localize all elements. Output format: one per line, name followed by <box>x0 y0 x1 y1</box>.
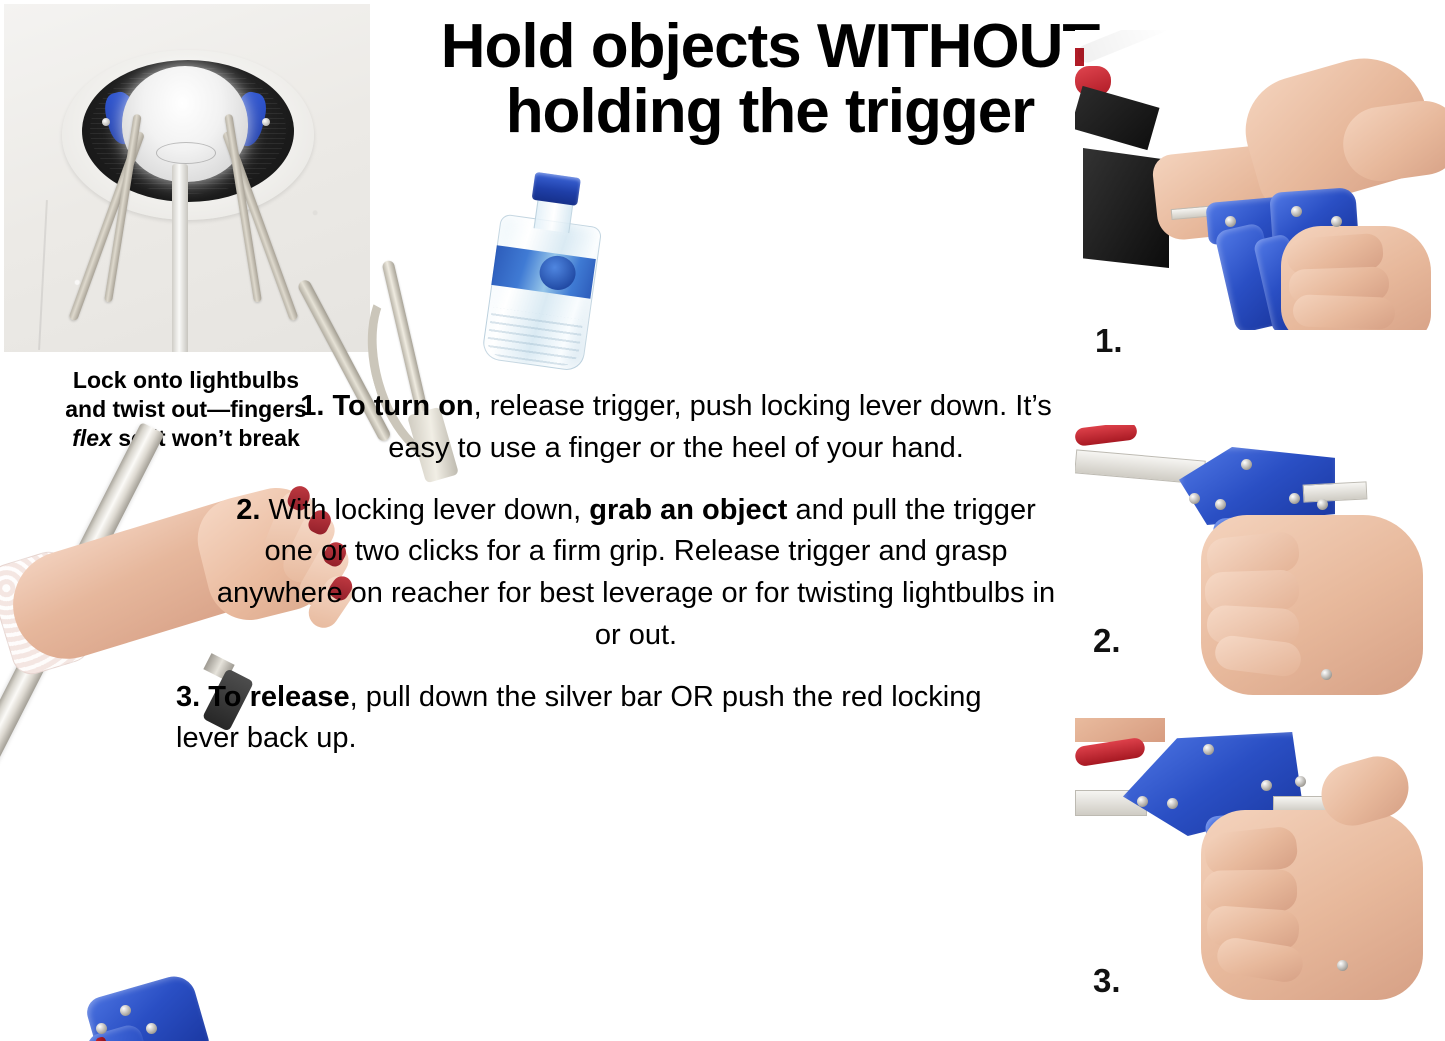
thumb-crease <box>1075 30 1171 65</box>
reacher-shaft <box>0 422 165 977</box>
handle-rivet-3 <box>96 1023 107 1034</box>
tool-rivet-5 <box>1295 776 1306 787</box>
step-1-bold: To turn on <box>332 390 473 422</box>
tool-rivet-4 <box>1289 493 1300 504</box>
step-1-photo <box>1075 30 1445 330</box>
handle-rivet-2 <box>146 1023 157 1034</box>
tool-rivet-4 <box>1261 780 1272 791</box>
page-title: Hold objects WITHOUT holding the trigger <box>370 14 1170 144</box>
tool-rivet-3 <box>1167 798 1178 809</box>
handle-rivet-1 <box>120 1005 131 1016</box>
jaw-rivet-left <box>102 118 110 126</box>
tool-rivet-1 <box>1203 744 1214 755</box>
instruction-step-2: 2. With locking lever down, grab an obje… <box>176 490 1056 657</box>
step-2-pre: With locking lever down, <box>269 494 590 526</box>
step-1-text: , release trigger, push locking lever do… <box>388 390 1052 464</box>
tool-rivet-1 <box>1241 459 1252 470</box>
water-bottle <box>475 167 612 371</box>
tool-rivet-5 <box>1317 499 1328 510</box>
grip-finger-2 <box>1203 869 1298 913</box>
step-1-number: 1. <box>300 390 324 422</box>
step-3-bold: To release <box>208 681 349 713</box>
photo-3-label: 3. <box>1093 962 1121 1000</box>
tool-rivet-3 <box>1331 216 1342 227</box>
step-2-number: 2. <box>236 494 260 526</box>
reacher-handle-assembly <box>42 975 262 1041</box>
red-locking-lever <box>1075 425 1138 447</box>
photo-2-label: 2. <box>1093 622 1121 660</box>
instruction-step-3: 3. To release, pull down the silver bar … <box>176 677 1056 761</box>
tool-rivet-2 <box>1225 216 1236 227</box>
black-sleeve-right <box>1075 86 1160 150</box>
tool-rivet-2 <box>1189 493 1200 504</box>
step-2-bold: grab an object <box>589 494 787 526</box>
tool-rivet-6 <box>1337 960 1348 971</box>
tool-rivet-2 <box>1137 796 1148 807</box>
instruction-step-1: 1. To turn on, release trigger, push loc… <box>176 386 1056 470</box>
poster-canvas: Hold objects WITHOUT holding the trigger… <box>0 0 1445 1041</box>
silver-bar <box>1303 481 1368 502</box>
jaw-rivet-right <box>262 118 270 126</box>
tool-rivet-1 <box>1291 206 1302 217</box>
tool-rivet-6 <box>1321 669 1332 680</box>
photo-1-label: 1. <box>1095 322 1123 360</box>
grip-finger-3 <box>1292 294 1395 330</box>
instruction-list: 1. To turn on, release trigger, push loc… <box>176 386 1056 780</box>
step-3-number: 3. <box>176 681 200 713</box>
step-2-photo <box>1075 425 1445 705</box>
step-3-photo <box>1075 718 1445 1018</box>
photo-top-corner-skin <box>1075 718 1165 742</box>
tool-rivet-3 <box>1215 499 1226 510</box>
